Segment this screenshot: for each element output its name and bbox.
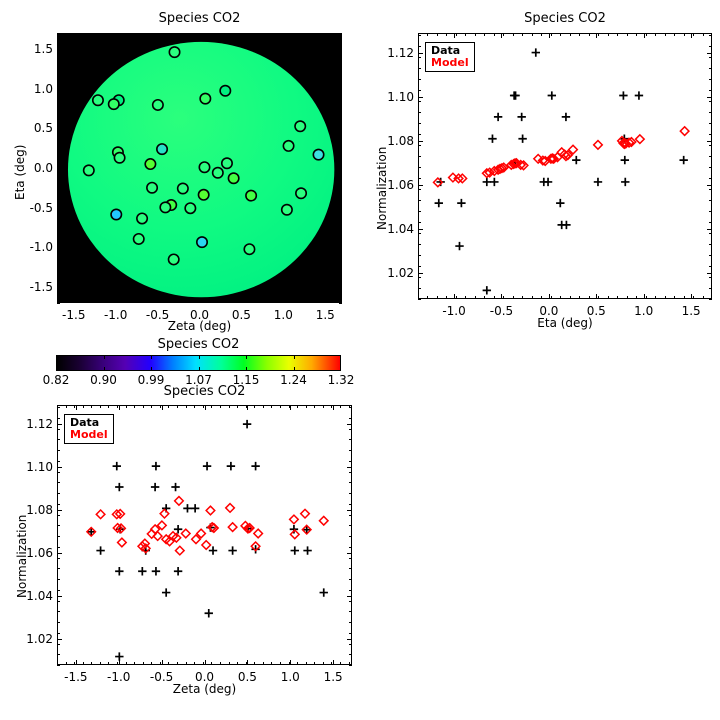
x-tickmark [158,33,159,38]
x-minor-tick [177,662,178,665]
x-minor-tick [162,33,163,36]
x-tickmark [290,405,291,410]
data-plus-marker [518,135,526,143]
x-minor-tick [646,33,647,36]
y-minor-tick [349,429,352,430]
x-minor-tick [134,662,135,665]
y-minor-tick [418,167,421,168]
x-tick-label: -0.5 [150,671,173,683]
colorbar-tickmark [294,355,295,359]
data-plus-marker [151,483,159,491]
x-minor-tick [674,33,675,36]
data-plus-marker [548,91,556,99]
x-tickmark [158,298,159,303]
y-tickmark [347,553,352,554]
y-tickmark [347,424,352,425]
x-tickmark [76,660,77,665]
y-minor-tick [349,504,352,505]
x-tickmark [241,298,242,303]
x-tickmark [200,298,201,303]
x-minor-tick [160,662,161,665]
y-minor-tick [418,134,421,135]
y-minor-tick [57,472,60,473]
x-tick-label: -1.0 [104,309,127,321]
y-minor-tick [349,418,352,419]
y-tickmark [707,141,712,142]
y-minor-tick [57,303,60,304]
x-minor-tick [494,296,495,299]
y-tickmark [707,273,712,274]
y-minor-tick [57,407,60,408]
model-diamond-marker [301,509,310,518]
y-tickmark [347,596,352,597]
y-minor-tick [57,590,60,591]
footprint-circle [222,158,232,168]
data-plus-marker [635,91,643,99]
data-plus-marker [115,567,123,575]
x-minor-tick [306,662,307,665]
x-minor-tick [246,300,247,303]
x-tickmark [74,33,75,38]
x-minor-tick [160,405,161,408]
x-tickmark [119,660,120,665]
y-minor-tick [349,665,352,666]
x-minor-tick [91,405,92,408]
y-minor-tick [57,536,60,537]
x-minor-tick [220,405,221,408]
y-minor-tick [349,439,352,440]
colorbar-tickmark [246,355,247,359]
data-plus-marker [619,91,627,99]
data-plus-marker [251,462,259,470]
model-diamond-marker [202,541,211,550]
footprint-circle [283,141,293,151]
y-minor-tick [418,255,421,256]
x-minor-tick [551,33,552,36]
y-minor-tick [418,79,421,80]
colorbar-tickmark [151,367,152,371]
data-plus-marker [494,113,502,121]
footprint-circle [282,205,292,215]
eta-scatter-xlabel: Eta (deg) [418,317,712,330]
footprint-circle [157,144,167,154]
footprint-circle [199,162,209,172]
x-minor-tick [314,405,315,408]
x-minor-tick [308,300,309,303]
y-minor-tick [709,46,712,47]
y-tickmark [418,141,423,142]
x-tickmark [74,298,75,303]
x-tick-label: -1.5 [62,309,85,321]
y-minor-tick [349,601,352,602]
x-tickmark [691,33,692,38]
footprint-circle [111,209,121,219]
x-tick-label: 1.0 [281,671,300,683]
x-tickmark [119,405,120,410]
y-tickmark [707,97,712,98]
eta-scatter-title: Species CO2 [418,12,712,26]
y-minor-tick [349,525,352,526]
x-minor-tick [143,405,144,408]
y-minor-tick [57,461,60,462]
x-minor-tick [297,405,298,408]
y-minor-tick [418,288,421,289]
x-minor-tick [162,300,163,303]
y-minor-tick [349,450,352,451]
y-tick-label: -0.5 [15,202,53,214]
x-minor-tick [194,662,195,665]
footprint-circle [178,183,188,193]
y-tick-label: 1.06 [15,547,53,559]
y-minor-tick [418,123,421,124]
x-minor-tick [306,405,307,408]
colorbar-tickmark [246,367,247,371]
y-minor-tick [57,85,60,86]
x-minor-tick [186,662,187,665]
y-minor-tick [339,204,342,205]
eta-scatter-canvas [419,34,711,298]
y-tick-label: 0.5 [15,122,53,134]
x-minor-tick [183,33,184,36]
y-minor-tick [709,255,712,256]
model-diamond-marker [160,509,169,518]
y-tickmark [337,128,342,129]
y-tickmark [707,229,712,230]
y-minor-tick [709,145,712,146]
x-tick-label: 1.5 [682,305,701,317]
y-minor-tick [339,124,342,125]
data-plus-marker [621,156,629,164]
x-minor-tick [627,296,628,299]
x-minor-tick [494,33,495,36]
data-plus-marker [556,199,564,207]
footprint-circle [134,234,144,244]
x-minor-tick [598,296,599,299]
data-plus-marker [152,567,160,575]
y-minor-tick [349,515,352,516]
data-plus-marker [320,588,328,596]
y-minor-tick [418,46,421,47]
x-minor-tick [151,662,152,665]
y-tickmark [57,49,62,50]
x-minor-tick [598,33,599,36]
y-tick-label: 1.04 [15,590,53,602]
y-tickmark [347,510,352,511]
x-tick-label: 0.0 [195,671,214,683]
y-minor-tick [339,104,342,105]
footprint-circle [313,149,323,159]
x-minor-tick [465,33,466,36]
y-minor-tick [57,654,60,655]
data-plus-marker [191,504,199,512]
y-minor-tick [709,79,712,80]
x-tickmark [596,33,597,38]
y-minor-tick [709,233,712,234]
x-minor-tick [314,662,315,665]
y-minor-tick [57,644,60,645]
footprint-circle [114,153,124,163]
x-minor-tick [141,300,142,303]
data-plus-marker [291,546,299,554]
model-diamond-marker [290,515,299,524]
y-minor-tick [709,123,712,124]
x-minor-tick [100,405,101,408]
model-diamond-marker [181,529,190,538]
footprint-circle [296,188,306,198]
footprint-circle [197,237,207,247]
data-plus-marker [96,546,104,554]
y-minor-tick [418,68,421,69]
x-minor-tick [254,405,255,408]
y-tick-label: 1.12 [376,47,414,59]
x-minor-tick [503,296,504,299]
y-minor-tick [57,504,60,505]
x-minor-tick [446,33,447,36]
data-plus-marker [303,525,311,533]
y-minor-tick [57,243,60,244]
model-diamond-marker [175,497,184,506]
x-tick-label: 0.5 [232,309,251,321]
x-minor-tick [475,33,476,36]
x-minor-tick [570,296,571,299]
data-plus-marker [594,178,602,186]
eta-scatter-frame [418,33,712,299]
x-minor-tick [126,662,127,665]
x-tick-label: -0.5 [146,309,169,321]
colorbar-tickmark [199,367,200,371]
y-minor-tick [349,622,352,623]
legend-model-label: Model [431,57,468,69]
colorbar-tickmark [104,367,105,371]
x-minor-tick [437,33,438,36]
image-map-frame [57,33,342,303]
y-minor-tick [709,112,712,113]
y-tickmark [57,467,62,468]
y-minor-tick [709,178,712,179]
y-minor-tick [339,144,342,145]
x-tickmark [644,294,645,299]
x-minor-tick [456,296,457,299]
y-minor-tick [339,184,342,185]
data-plus-marker [113,462,121,470]
y-tickmark [347,467,352,468]
y-minor-tick [57,45,60,46]
y-tickmark [337,287,342,288]
y-minor-tick [349,579,352,580]
x-minor-tick [484,296,485,299]
y-minor-tick [57,633,60,634]
y-minor-tick [57,283,60,284]
y-minor-tick [349,568,352,569]
y-minor-tick [709,200,712,201]
footprint-circle [198,190,208,200]
x-minor-tick [308,33,309,36]
data-plus-marker [174,525,182,533]
x-minor-tick [237,662,238,665]
y-minor-tick [57,263,60,264]
colorbar-tickmark [199,355,200,359]
y-tickmark [57,208,62,209]
y-tickmark [418,185,423,186]
x-minor-tick [263,405,264,408]
y-tick-label: -1.5 [15,281,53,293]
y-minor-tick [339,164,342,165]
y-minor-tick [709,266,712,267]
x-minor-tick [108,405,109,408]
x-minor-tick [636,33,637,36]
x-minor-tick [83,662,84,665]
x-minor-tick [437,296,438,299]
data-plus-marker [457,199,465,207]
y-minor-tick [709,277,712,278]
data-plus-marker [251,545,259,553]
x-tick-label: -1.0 [107,671,130,683]
data-plus-marker [517,113,525,121]
x-minor-tick [280,405,281,408]
zeta-scatter-canvas [58,406,351,664]
x-minor-tick [183,300,184,303]
y-minor-tick [349,493,352,494]
data-plus-marker [455,242,463,250]
x-minor-tick [143,662,144,665]
y-minor-tick [57,65,60,66]
y-tickmark [337,208,342,209]
y-minor-tick [57,204,60,205]
x-tick-label: 0.5 [238,671,257,683]
x-minor-tick [203,662,204,665]
x-minor-tick [560,33,561,36]
y-minor-tick [339,45,342,46]
x-minor-tick [684,296,685,299]
x-minor-tick [665,296,666,299]
x-minor-tick [254,662,255,665]
y-minor-tick [349,611,352,612]
x-minor-tick [177,405,178,408]
x-minor-tick [288,300,289,303]
x-tickmark [205,405,206,410]
y-tick-label: 1.02 [15,633,53,645]
y-minor-tick [339,65,342,66]
data-plus-marker [152,462,160,470]
y-minor-tick [339,303,342,304]
x-minor-tick [126,405,127,408]
x-minor-tick [541,33,542,36]
colorbar-tickmark [294,367,295,371]
footprint-circle [147,183,157,193]
x-minor-tick [665,33,666,36]
x-minor-tick [684,33,685,36]
x-minor-tick [186,405,187,408]
x-minor-tick [66,405,67,408]
x-tick-label: -1.0 [442,305,465,317]
y-minor-tick [57,622,60,623]
y-minor-tick [418,178,421,179]
x-minor-tick [522,33,523,36]
x-tickmark [283,33,284,38]
y-tickmark [337,168,342,169]
x-minor-tick [703,296,704,299]
x-minor-tick [120,33,121,36]
y-minor-tick [57,611,60,612]
data-plus-marker [562,113,570,121]
x-tickmark [162,660,163,665]
x-minor-tick [646,296,647,299]
footprint-circle [153,100,163,110]
x-minor-tick [203,405,204,408]
y-minor-tick [418,112,421,113]
y-tickmark [57,89,62,90]
x-minor-tick [579,296,580,299]
colorbar-tickmark [104,355,105,359]
x-minor-tick [211,662,212,665]
data-plus-marker [228,546,236,554]
y-minor-tick [709,167,712,168]
y-minor-tick [709,222,712,223]
eta-scatter-legend: Data Model [425,42,475,72]
x-minor-tick [513,33,514,36]
y-minor-tick [349,644,352,645]
x-minor-tick [484,33,485,36]
x-minor-tick [608,33,609,36]
data-plus-marker [171,483,179,491]
x-tick-label: 1.0 [634,305,653,317]
y-minor-tick [57,547,60,548]
x-minor-tick [66,662,67,665]
x-minor-tick [117,662,118,665]
x-minor-tick [522,296,523,299]
x-minor-tick [513,296,514,299]
zeta-scatter-title: Species CO2 [57,385,352,399]
y-tickmark [707,53,712,54]
x-minor-tick [636,296,637,299]
x-minor-tick [57,33,58,36]
x-minor-tick [100,662,101,665]
data-plus-marker [679,156,687,164]
y-minor-tick [418,244,421,245]
x-tickmark [290,660,291,665]
x-minor-tick [141,33,142,36]
y-tickmark [337,49,342,50]
x-minor-tick [229,662,230,665]
x-tickmark [116,33,117,38]
y-minor-tick [349,407,352,408]
y-minor-tick [57,429,60,430]
x-tickmark [76,405,77,410]
x-tickmark [200,33,201,38]
footprint-circle [228,173,238,183]
x-tickmark [644,33,645,38]
y-minor-tick [709,156,712,157]
x-minor-tick [617,33,618,36]
footprint-circle [200,93,210,103]
model-diamond-marker [636,135,645,144]
y-tickmark [418,273,423,274]
y-minor-tick [418,299,421,300]
x-minor-tick [655,33,656,36]
x-minor-tick [551,296,552,299]
x-minor-tick [560,296,561,299]
x-minor-tick [267,300,268,303]
x-minor-tick [589,33,590,36]
y-minor-tick [418,35,421,36]
footprint-circle [169,47,179,57]
x-tickmark [247,660,248,665]
x-minor-tick [117,405,118,408]
y-tick-label: 1.08 [15,504,53,516]
y-tickmark [57,247,62,248]
y-minor-tick [349,654,352,655]
y-tick-label: 1.04 [376,223,414,235]
